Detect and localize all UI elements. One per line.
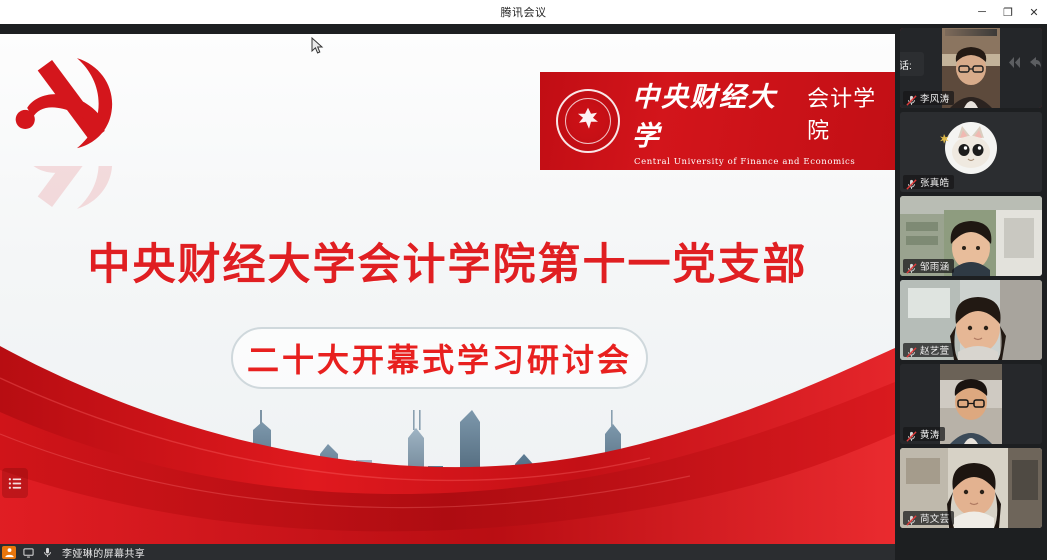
red-ribbon-waves (0, 294, 895, 544)
cpc-hammer-sickle-emblem (8, 46, 123, 166)
participant-name-bar: 邹雨涵 (903, 259, 954, 273)
microphone-muted-icon (906, 177, 917, 188)
participant-tile[interactable]: 邹雨涵 (900, 196, 1042, 276)
participant-name: 苘文芸 (920, 511, 949, 525)
restore-button[interactable]: ❐ (995, 0, 1021, 24)
screen-top-strip (0, 24, 895, 34)
participant-name: 邹雨涵 (920, 259, 949, 273)
participant-name-bar: 赵艺萱 (903, 343, 954, 357)
panel-top-strip (945, 29, 997, 36)
microphone-muted-icon (906, 93, 917, 104)
university-banner: 中央财经大学 会计学院 Central University of Financ… (540, 72, 895, 170)
microphone-muted-icon (906, 261, 917, 272)
close-button[interactable]: ✕ (1021, 0, 1047, 24)
emblem-reflection (8, 166, 123, 221)
banner-university-name-en: Central University of Finance and Econom… (634, 157, 895, 167)
window-controls: ─ ❐ ✕ (969, 0, 1047, 24)
participant-name: 黄涛 (920, 427, 940, 441)
screen-share-icon[interactable] (21, 546, 35, 559)
participant-name-bar: 李风涛 (903, 91, 954, 105)
shared-screen-area[interactable]: 中央财经大学 会计学院 Central University of Financ… (0, 24, 895, 560)
participant-name: 张真皓 (920, 175, 949, 189)
microphone-icon[interactable] (40, 546, 54, 559)
meeting-stage: 中央财经大学 会计学院 Central University of Financ… (0, 24, 1047, 560)
participant-tile[interactable]: 苘文芸 (900, 448, 1042, 528)
app-title: 腾讯会议 (501, 4, 547, 20)
microphone-muted-icon (906, 429, 917, 440)
collapse-panel-icon[interactable] (1006, 54, 1023, 71)
participant-name: 赵艺萱 (920, 343, 949, 357)
panel-tools (1006, 54, 1043, 71)
university-seal-logo (556, 89, 620, 153)
presentation-slide: 中央财经大学 会计学院 Central University of Financ… (0, 34, 895, 544)
participant-name-bar: 黄涛 (903, 427, 945, 441)
participant-tile[interactable]: 赵艺萱 (900, 280, 1042, 360)
microphone-muted-icon (906, 513, 917, 524)
participant-name: 李风涛 (920, 91, 949, 105)
participant-name-bar: 张真皓 (903, 175, 954, 189)
participants-panel[interactable]: 正在讲话: 李风涛 (895, 24, 1047, 560)
window-title-bar: 腾讯会议 ─ ❐ ✕ (0, 0, 1047, 24)
participant-tile[interactable]: 黄涛 (900, 364, 1042, 444)
participant-name-bar: 苘文芸 (903, 511, 954, 525)
slide-title: 中央财经大学会计学院第十一党支部 (0, 230, 895, 292)
microphone-muted-icon (906, 345, 917, 356)
person-icon[interactable] (2, 546, 16, 559)
participant-tile[interactable]: 张真皓 (900, 112, 1042, 192)
banner-school-name: 会计学院 (807, 81, 895, 145)
mouse-cursor (311, 37, 324, 55)
speaking-indicator-badge: 正在讲话: (900, 52, 924, 76)
list-menu-icon[interactable] (2, 468, 28, 498)
share-status-text: 李娅琳的屏幕共享 (62, 545, 145, 560)
screen-share-status-bar: 李娅琳的屏幕共享 (0, 544, 895, 560)
speaking-label: 正在讲话: (900, 57, 912, 72)
banner-university-name: 中央财经大学 (632, 75, 798, 153)
minimize-button[interactable]: ─ (969, 0, 995, 24)
expand-panel-icon[interactable] (1026, 54, 1043, 71)
